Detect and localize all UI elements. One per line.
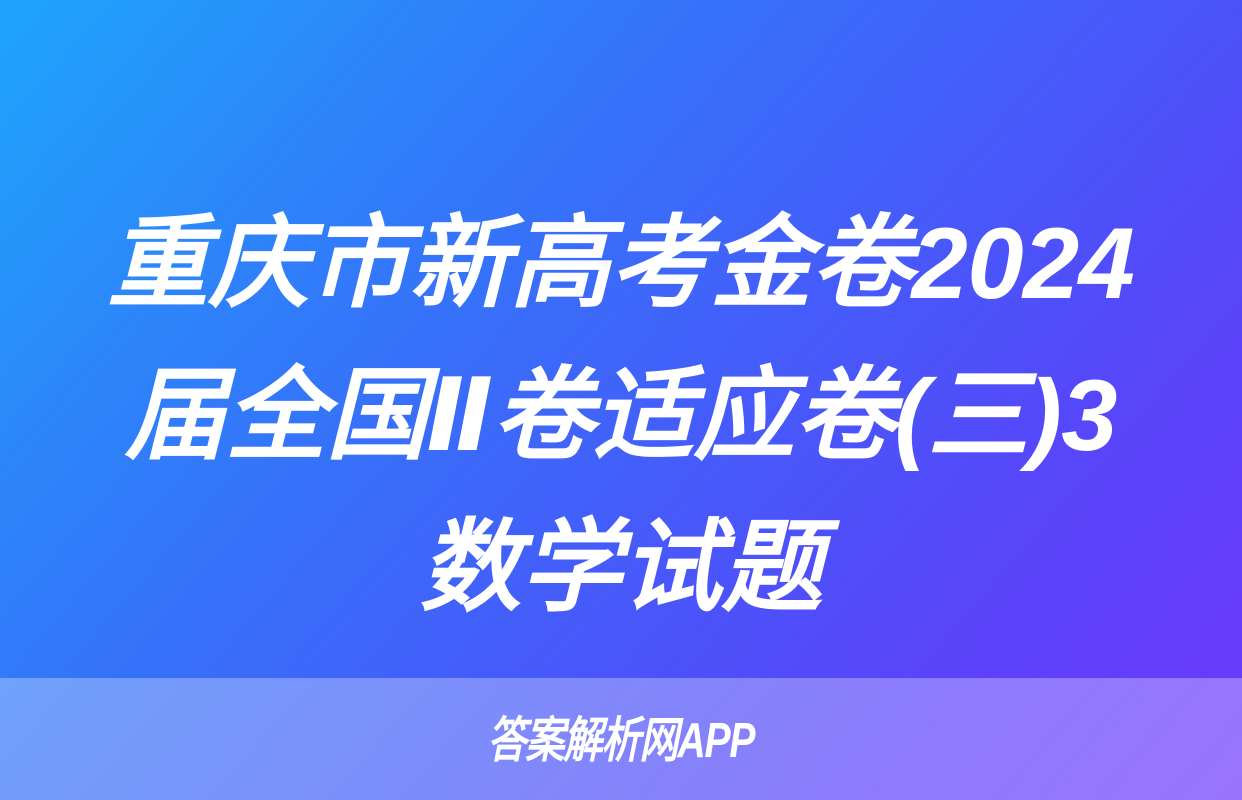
page-title-line-2: 届全国Ⅱ卷适应卷(三)3 [86,340,1156,492]
page-title-line-3: 数学试题 [86,492,1156,644]
footer-watermark-band: 答案解析网APP [0,678,1242,800]
exam-paper-cover-poster: 重庆市新高考金卷2024 届全国Ⅱ卷适应卷(三)3 数学试题 答案解析网APP [0,0,1242,800]
app-watermark-label: 答案解析网APP [487,717,754,766]
page-title-line-1: 重庆市新高考金卷2024 [86,188,1156,340]
page-title: 重庆市新高考金卷2024 届全国Ⅱ卷适应卷(三)3 数学试题 [86,188,1156,644]
